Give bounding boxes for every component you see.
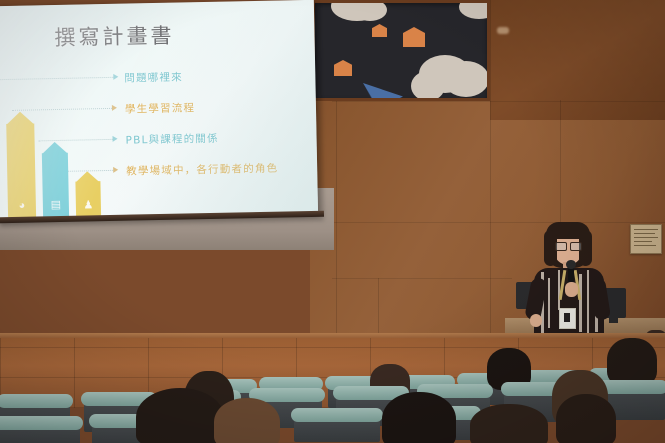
- slide-bullet-1: 問題哪裡來: [124, 69, 183, 85]
- wall-seam: [378, 278, 379, 340]
- paper-plane-motif: [363, 83, 403, 98]
- slide-bar-1: ◕: [6, 111, 36, 221]
- head-idea-icon: ◕: [18, 201, 25, 212]
- presenter-hand-right: [565, 282, 578, 297]
- house-motif: [403, 27, 425, 47]
- bullet-leader-line: [39, 139, 113, 141]
- slide-bar-3: ♟: [75, 171, 101, 220]
- wall-seam: [560, 100, 561, 230]
- bullet-arrow-icon: [112, 105, 117, 111]
- book-icon: ▤: [51, 200, 62, 211]
- slide-bullet-4: 教學場域中，各行動者的角色: [126, 161, 278, 179]
- attendee-head: [470, 404, 548, 443]
- auditorium-seat: [0, 420, 80, 443]
- bullet-leader-line: [0, 77, 113, 80]
- glasses-icon: [570, 242, 582, 251]
- upper-right-wall: [490, 0, 665, 120]
- auditorium-seat: [294, 412, 380, 442]
- bullet-arrow-icon: [113, 136, 118, 142]
- slide-bar-2: ▤: [42, 142, 70, 221]
- wall-seam: [336, 100, 337, 340]
- bullet-arrow-icon: [113, 167, 118, 173]
- bulletin-board: [312, 0, 490, 101]
- wall-seam: [490, 0, 491, 340]
- wall-seam: [332, 278, 512, 279]
- wall-light-spot: [497, 27, 509, 34]
- attendee-head: [382, 392, 456, 443]
- attendee-head: [136, 388, 224, 443]
- wall-seam: [332, 101, 665, 102]
- microphone-head: [566, 260, 576, 269]
- bullet-leader-line: [12, 108, 112, 111]
- lecture-hall-photo: 撰寫計畫書 問題哪裡來 學生學習流程 PBL與課程的關係 教學場域中，各行動者的…: [0, 0, 665, 443]
- house-motif: [334, 60, 352, 76]
- projection-screen: 撰寫計畫書 問題哪裡來 學生學習流程 PBL與課程的關係 教學場域中，各行動者的…: [0, 0, 318, 221]
- house-motif: [372, 24, 387, 37]
- wall-plaque: [630, 224, 662, 254]
- slide-bullet-2: 學生學習流程: [125, 100, 195, 116]
- glasses-icon: [555, 242, 567, 251]
- wall-seam: [332, 222, 665, 223]
- attendee-head: [556, 394, 616, 443]
- badge-photo: [564, 313, 570, 322]
- attendee-head: [607, 338, 657, 386]
- slide-title: 撰寫計畫書: [54, 20, 175, 52]
- attendee-head: [214, 398, 280, 443]
- person-icon: ♟: [83, 200, 93, 211]
- slide-bullet-3: PBL與課程的關係: [125, 131, 218, 148]
- presenter-hand-left: [530, 314, 542, 327]
- bullet-arrow-icon: [113, 74, 118, 80]
